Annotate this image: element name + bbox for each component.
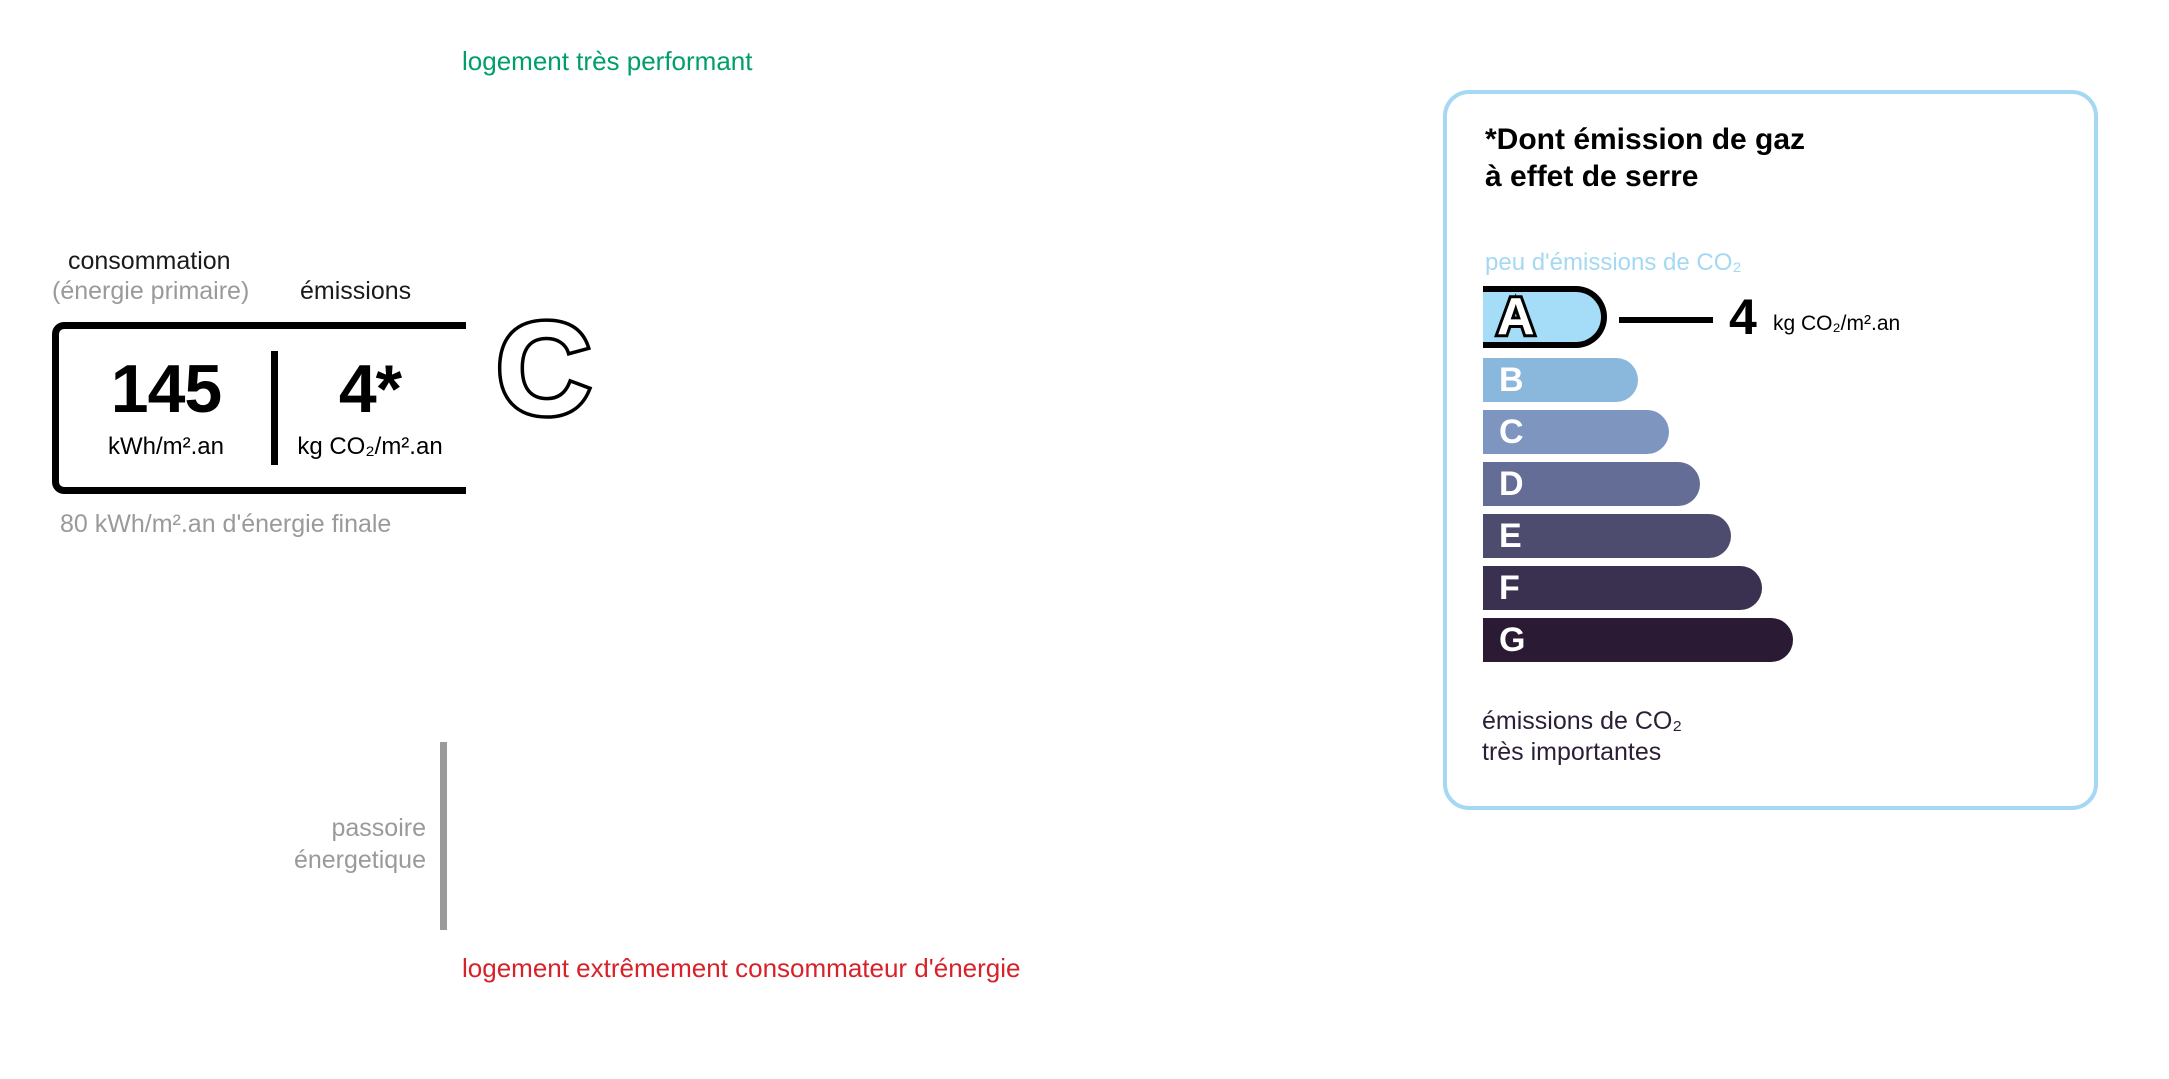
co2-top-caption: peu d'émissions de CO₂ bbox=[1485, 249, 1742, 277]
co2-leader-line bbox=[1619, 317, 1713, 323]
co2-band-c-letter: C bbox=[1499, 415, 1524, 449]
co2-band-d-letter: D bbox=[1499, 467, 1524, 501]
co2-emissions-panel: *Dont émission de gaz à effet de serre p… bbox=[1443, 90, 2098, 810]
band-d-letter: D bbox=[500, 483, 545, 545]
passoire-marker-bar bbox=[440, 742, 447, 930]
band-c-letter: C bbox=[496, 303, 591, 435]
scale-top-caption: logement très performant bbox=[462, 46, 752, 77]
co2-band-a-letter: A bbox=[1497, 291, 1535, 343]
emissions-unit: kg CO₂/m².an bbox=[297, 433, 442, 461]
band-g-letter: G bbox=[500, 777, 548, 839]
co2-panel-title: *Dont émission de gaz à effet de serre bbox=[1485, 122, 1805, 196]
band-e-letter: E bbox=[500, 581, 541, 643]
final-energy-note: 80 kWh/m².an d'énergie finale bbox=[60, 508, 391, 540]
energy-performance-scale: logement très performant A B C bbox=[0, 0, 1400, 1079]
co2-band-g-bar bbox=[1483, 618, 1793, 662]
emissions-value: 4* bbox=[339, 355, 401, 423]
consumption-value: 145 bbox=[111, 355, 221, 423]
co2-band-f-bar bbox=[1483, 566, 1762, 610]
co2-band-f-letter: F bbox=[1499, 571, 1520, 605]
passoire-label: passoire énergetique bbox=[250, 812, 426, 876]
co2-band-b-letter: B bbox=[1499, 363, 1524, 397]
consumption-value-cell: 145 kWh/m².an bbox=[59, 329, 273, 487]
emissions-value-cell: 4* kg CO₂/m².an bbox=[275, 329, 465, 487]
scale-bottom-caption: logement extrêmement consommateur d'éner… bbox=[462, 953, 1020, 984]
label-primary-energy: (énergie primaire) bbox=[52, 277, 249, 306]
co2-value-unit: kg CO₂/m².an bbox=[1773, 312, 1900, 336]
band-a-letter: A bbox=[500, 95, 545, 157]
label-consumption: consommation bbox=[68, 247, 231, 276]
co2-band-e-letter: E bbox=[1499, 519, 1522, 553]
band-f-letter: F bbox=[500, 679, 538, 741]
co2-bottom-caption: émissions de CO₂ très importantes bbox=[1482, 706, 1682, 767]
band-b-letter: B bbox=[500, 193, 545, 255]
label-emissions: émissions bbox=[300, 277, 411, 306]
value-box: 145 kWh/m².an 4* kg CO₂/m².an bbox=[52, 322, 466, 494]
co2-band-g-letter: G bbox=[1499, 623, 1525, 657]
co2-value: 4 bbox=[1729, 286, 1757, 348]
consumption-unit: kWh/m².an bbox=[108, 433, 224, 461]
